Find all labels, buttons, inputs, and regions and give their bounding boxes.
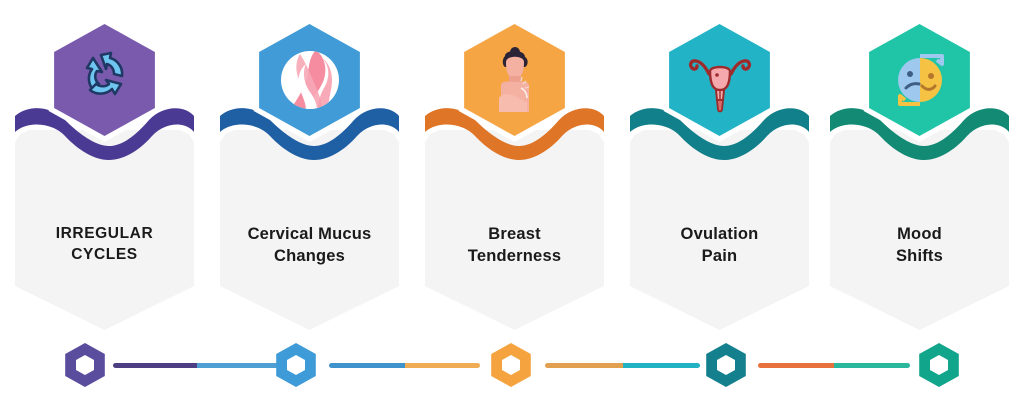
segment-half-end [405,363,481,368]
hex-badge [43,18,167,142]
card-label: Mood Shifts [830,224,1009,268]
segment-half-end [197,363,281,368]
card-ovulation-pain[interactable]: Ovulation Pain [622,18,817,330]
card-label: Breast Tenderness [425,224,604,268]
card-irregular-cycles[interactable]: IRREGULAR CYCLES [7,18,202,330]
segment-half-end [834,363,910,368]
card-breast-tenderness[interactable]: Breast Tenderness [417,18,612,330]
uterus-icon [680,40,760,120]
timeline [0,330,1024,400]
breast-tenderness-icon [475,40,555,120]
cycle-arrows-icon [65,40,145,120]
timeline-node-cervical-mucus[interactable] [274,343,318,387]
symptoms-infographic: IRREGULAR CYCLES [0,0,1024,400]
card-label: IRREGULAR CYCLES [15,224,194,265]
segment-half-start [758,363,834,368]
segment-half-end [623,363,701,368]
segment-half-start [113,363,197,368]
card-mood-shifts[interactable]: Mood Shifts [822,18,1017,330]
hex-badge [248,18,372,142]
cards-row: IRREGULAR CYCLES [0,0,1024,330]
card-cervical-mucus-changes[interactable]: Cervical Mucus Changes [212,18,407,330]
cervical-mucus-icon [270,40,350,120]
hex-badge [858,18,982,142]
timeline-segment-3 [545,363,700,368]
segment-half-start [329,363,405,368]
timeline-segment-2 [329,363,480,368]
timeline-node-breast-tenderness[interactable] [489,343,533,387]
card-label: Cervical Mucus Changes [220,224,399,268]
timeline-node-mood-shifts[interactable] [917,343,961,387]
card-label: Ovulation Pain [630,224,809,268]
hex-badge [453,18,577,142]
timeline-segment-1 [113,363,281,368]
timeline-node-irregular-cycles[interactable] [63,343,107,387]
mood-swing-face-icon [880,40,960,120]
hex-badge [658,18,782,142]
timeline-node-ovulation-pain[interactable] [704,343,748,387]
segment-half-start [545,363,623,368]
timeline-segment-4 [758,363,910,368]
